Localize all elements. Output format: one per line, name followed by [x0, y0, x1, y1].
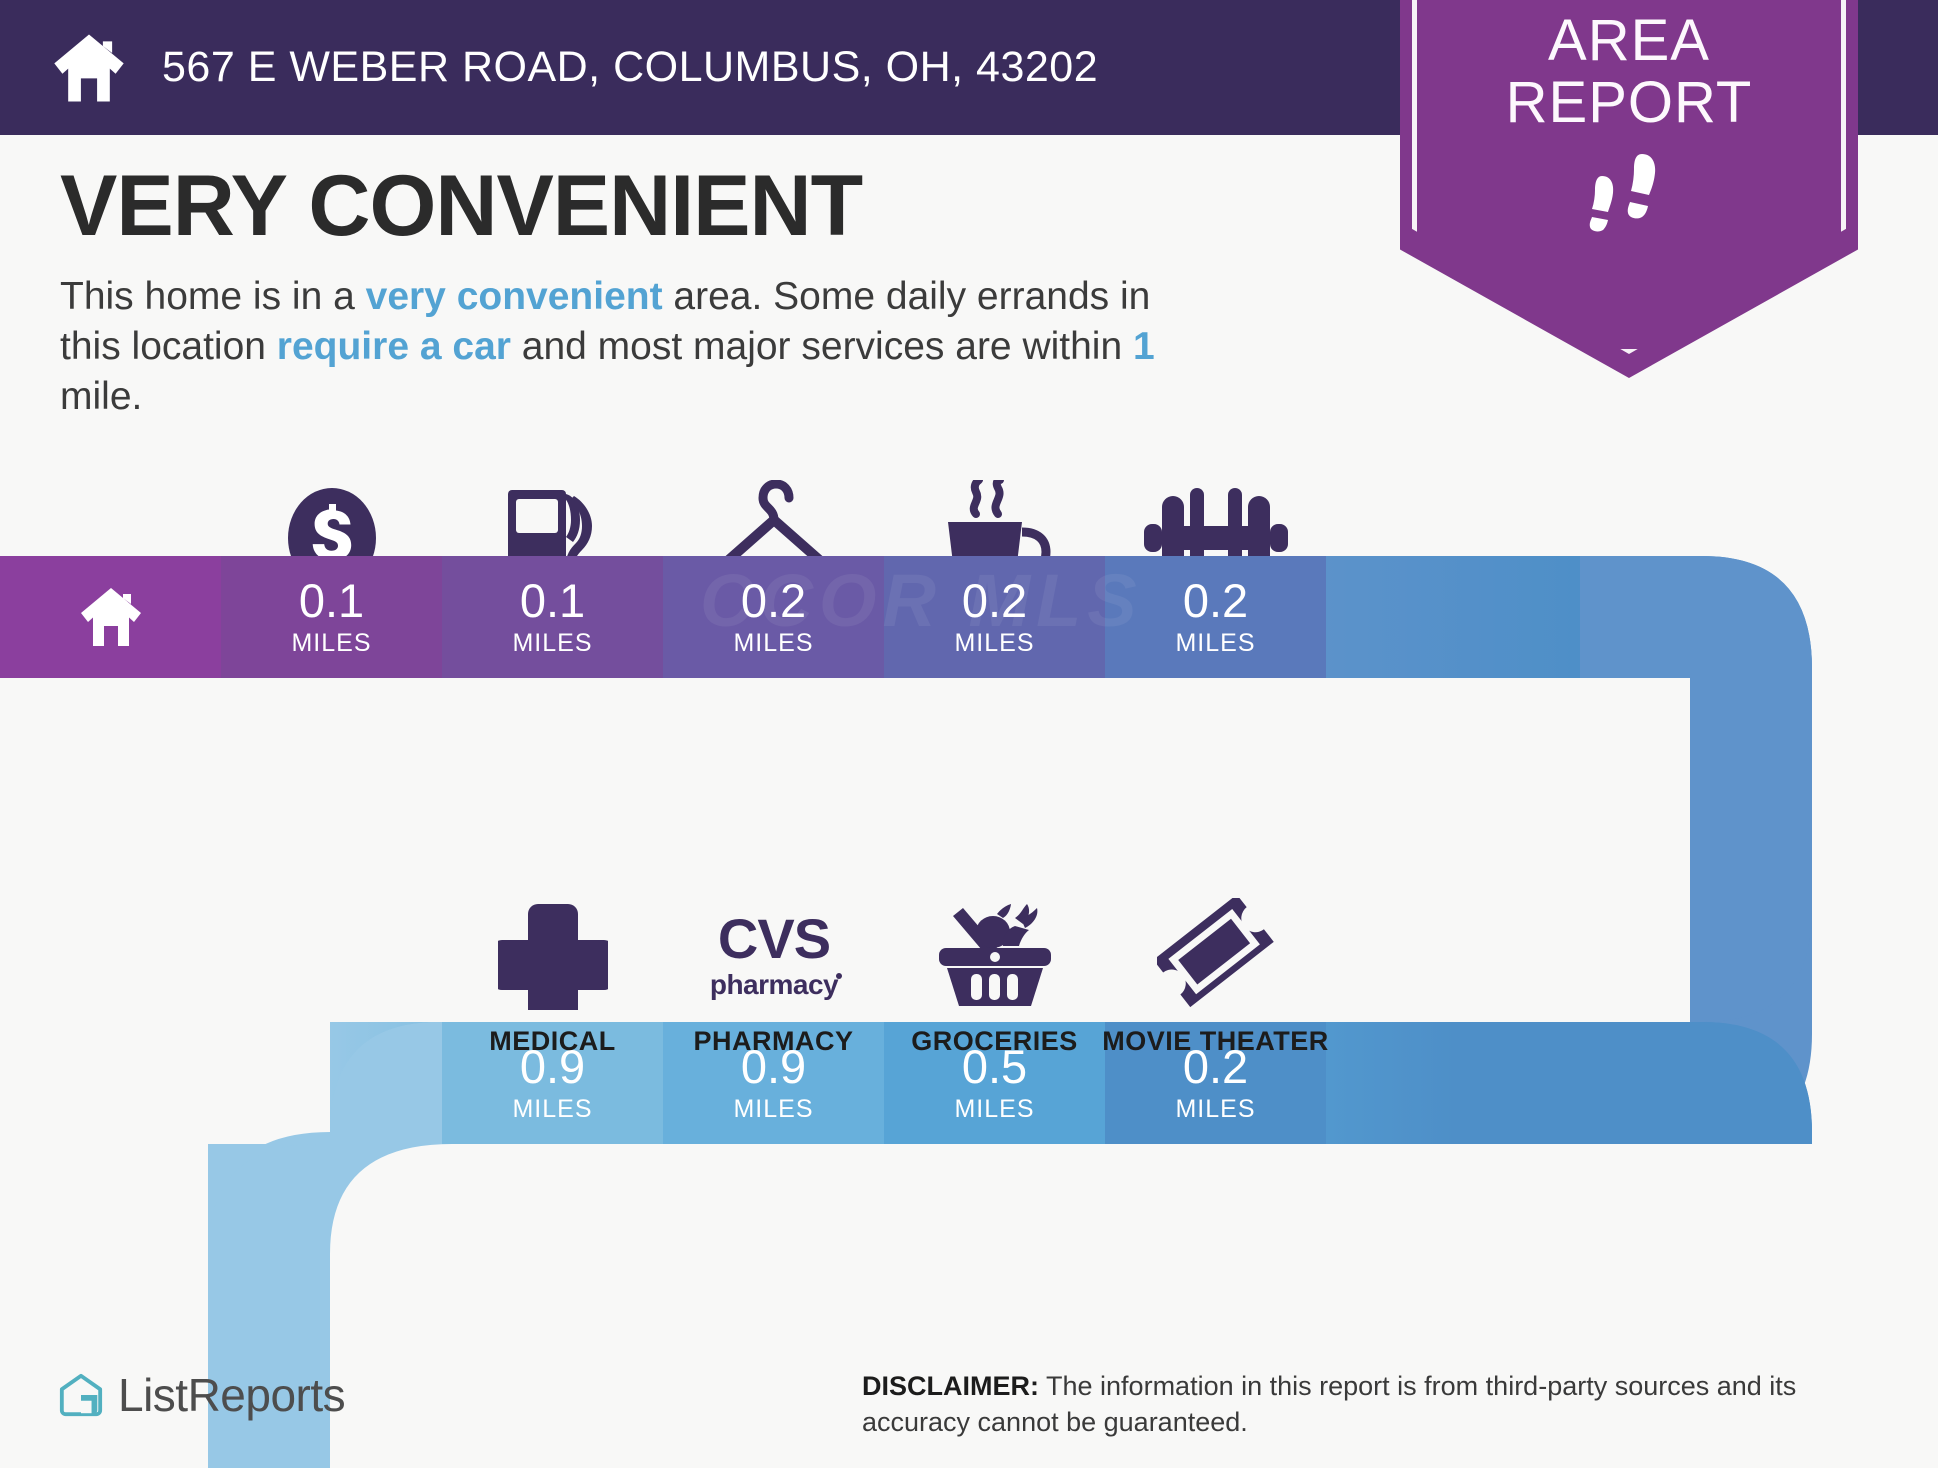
distance-bar-row-1: 0.1 MILES 0.1 MILES 0.2 MILES 0.2 MILES … — [0, 556, 1326, 678]
bar-cell-atm: 0.1 MILES — [221, 556, 442, 678]
hero-description: This home is in a very convenient area. … — [60, 272, 1160, 422]
footprints-icon — [1572, 152, 1684, 244]
distance-unit-gym: MILES — [1175, 628, 1255, 658]
distance-unit-movie-theater: MILES — [1175, 1094, 1255, 1124]
home-icon — [52, 32, 126, 104]
amenity-label-medical: MEDICAL — [489, 1026, 616, 1057]
listreports-brand-name: ListReports — [118, 1368, 345, 1422]
distance-unit-pharmacy: MILES — [733, 1094, 813, 1124]
area-report-page: 567 E WEBER ROAD, COLUMBUS, OH, 43202 AR… — [0, 0, 1938, 1468]
distance-unit-groceries: MILES — [954, 1094, 1034, 1124]
bar-cell-gym: 0.2 MILES — [1105, 556, 1326, 678]
listreports-logo-icon — [58, 1372, 104, 1418]
bar-cell-coffee: 0.2 MILES — [884, 556, 1105, 678]
pharmacy-icon-box: CVS pharmacy — [699, 900, 849, 1010]
hero-highlight-2: require a car — [277, 325, 511, 368]
distance-unit-coffee: MILES — [954, 628, 1034, 658]
page-title: VERY CONVENIENT — [60, 158, 1280, 254]
bar-cell-gas: 0.1 MILES — [442, 556, 663, 678]
hero-highlight-3: 1 — [1133, 325, 1155, 368]
distance-value-coffee: 0.2 — [962, 576, 1027, 626]
hero-text-1: This home is in a — [60, 275, 366, 318]
movie-theater-icon-box — [1157, 900, 1275, 1010]
amenity-medical: MEDICAL — [442, 900, 663, 1057]
home-icon — [78, 586, 144, 648]
distance-unit-cleaners: MILES — [733, 628, 813, 658]
distance-unit-medical: MILES — [512, 1094, 592, 1124]
groceries-icon-box — [931, 900, 1059, 1010]
hero-section: VERY CONVENIENT This home is in a very c… — [60, 158, 1280, 422]
movie-ticket-icon — [1157, 898, 1275, 1010]
listreports-logo[interactable]: ListReports — [58, 1368, 345, 1422]
amenity-movie-theater: MOVIE THEATER — [1105, 900, 1326, 1057]
bar-cell-home — [0, 556, 221, 678]
amenity-label-movie-theater: MOVIE THEATER — [1102, 1026, 1329, 1057]
medical-icon-box — [498, 900, 608, 1010]
amenity-label-pharmacy: PHARMACY — [693, 1026, 853, 1057]
amenity-pharmacy: CVS pharmacy PHARMACY — [663, 900, 884, 1057]
icon-cell-spacer-2 — [0, 900, 221, 1057]
header-address: 567 E WEBER ROAD, COLUMBUS, OH, 43202 — [162, 43, 1098, 92]
amenity-groceries: GROCERIES — [884, 900, 1105, 1057]
svg-text:pharmacy: pharmacy — [709, 969, 838, 1000]
amenity-label-groceries: GROCERIES — [911, 1026, 1078, 1057]
svg-text:CVS: CVS — [717, 907, 829, 970]
cvs-pharmacy-logo: CVS pharmacy — [699, 906, 849, 1010]
grocery-basket-icon — [931, 900, 1059, 1010]
distance-value-gym: 0.2 — [1183, 576, 1248, 626]
amenity-icon-row-2: MEDICAL CVS pharmacy PHARMACY — [0, 900, 1326, 1057]
badge-line-2: REPORT — [1400, 72, 1858, 134]
distance-value-cleaners: 0.2 — [741, 576, 806, 626]
area-report-badge-title: AREA REPORT — [1400, 10, 1858, 134]
icon-cell-spacer-3 — [221, 900, 442, 1057]
medical-cross-icon — [498, 900, 608, 1010]
disclaimer: DISCLAIMER: The information in this repo… — [862, 1368, 1802, 1440]
distance-value-atm: 0.1 — [299, 576, 364, 626]
distance-unit-atm: MILES — [291, 628, 371, 658]
distance-value-gas: 0.1 — [520, 576, 585, 626]
hero-text-4: mile. — [60, 375, 142, 418]
distance-unit-gas: MILES — [512, 628, 592, 658]
hero-highlight-1: very convenient — [366, 275, 663, 318]
hero-text-3: and most major services are within — [511, 325, 1133, 368]
disclaimer-label: DISCLAIMER: — [862, 1371, 1039, 1401]
bar-cell-cleaners: 0.2 MILES — [663, 556, 884, 678]
badge-line-1: AREA — [1400, 10, 1858, 72]
